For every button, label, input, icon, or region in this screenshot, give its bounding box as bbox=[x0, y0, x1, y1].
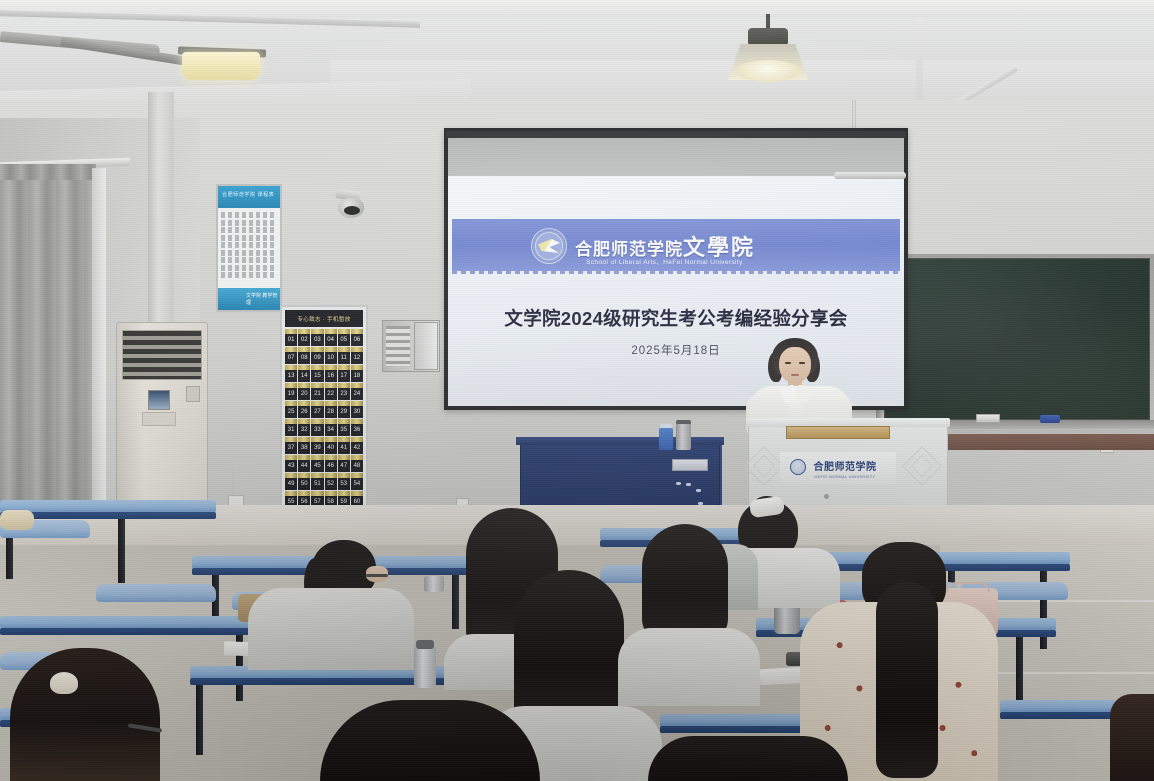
phone-pocket[interactable]: 37 bbox=[285, 437, 297, 454]
notice-row bbox=[221, 272, 277, 278]
phone-pocket[interactable]: 40 bbox=[325, 437, 337, 454]
phone-pocket-number: 19 bbox=[288, 391, 295, 400]
phone-pocket-number: 54 bbox=[354, 481, 361, 490]
lectern-university-name-cn: 合肥师范学院 bbox=[814, 458, 877, 473]
electrical-box-door[interactable] bbox=[414, 322, 438, 370]
phone-pocket[interactable]: 06 bbox=[351, 329, 363, 346]
notice-row bbox=[221, 250, 277, 256]
pendant-lamp-glow bbox=[736, 60, 800, 82]
phone-pocket[interactable]: 21 bbox=[311, 383, 323, 400]
ponytail bbox=[876, 582, 938, 778]
hair-clip bbox=[50, 672, 78, 694]
phone-pocket[interactable]: 49 bbox=[285, 473, 297, 490]
phone-pocket-number: 06 bbox=[354, 337, 361, 346]
phone-pocket-organizer[interactable]: 专心致志 · 手机暂放 0102030405060708091011121314… bbox=[280, 305, 368, 515]
curtain-pleat-header bbox=[0, 164, 96, 180]
hair bbox=[1110, 694, 1154, 781]
desk-leg bbox=[196, 685, 203, 755]
phone-pocket-number: 43 bbox=[288, 463, 295, 472]
phone-pocket[interactable]: 46 bbox=[325, 455, 337, 472]
phone-pocket-number: 39 bbox=[314, 445, 321, 454]
blue-chalk-box[interactable] bbox=[1040, 415, 1060, 423]
phone-pocket-number: 14 bbox=[301, 373, 308, 382]
grey-window-curtain[interactable] bbox=[0, 168, 96, 508]
notice-row bbox=[221, 242, 277, 248]
lectern-university-name-en: HEFEI NORMAL UNIVERSITY bbox=[815, 475, 876, 479]
phone-pocket-number: 42 bbox=[354, 445, 361, 454]
phone-pocket-number: 50 bbox=[301, 481, 308, 490]
phone-pocket-number: 22 bbox=[327, 391, 334, 400]
phone-pocket[interactable]: 01 bbox=[285, 329, 297, 346]
notice-row bbox=[221, 265, 277, 271]
phone-pocket-number: 45 bbox=[314, 463, 321, 472]
notice-row bbox=[221, 257, 277, 263]
projector-screen-gray-band bbox=[448, 138, 904, 176]
phone-pocket-number: 29 bbox=[340, 409, 347, 418]
phone-pocket-number: 33 bbox=[314, 427, 321, 436]
phone-pocket-number: 17 bbox=[340, 373, 347, 382]
phone-pocket-number: 07 bbox=[288, 355, 295, 364]
notice-board-header-text: 合肥师范学院 课程表 bbox=[222, 191, 276, 203]
phone-pocket[interactable]: 05 bbox=[338, 329, 350, 346]
bird-glyph bbox=[538, 239, 560, 253]
phone-pocket-number: 44 bbox=[301, 463, 308, 472]
console-indicator bbox=[676, 482, 681, 485]
notice-board-footer-text: 文学院 教学管理 bbox=[246, 292, 278, 306]
phone-pocket[interactable]: 19 bbox=[285, 383, 297, 400]
slide-header-dotted-rule bbox=[452, 271, 900, 274]
desk-leg bbox=[118, 519, 125, 583]
phone-pocket[interactable]: 34 bbox=[325, 419, 337, 436]
phone-pocket[interactable]: 47 bbox=[338, 455, 350, 472]
floor-tile-line bbox=[990, 672, 1154, 674]
phone-pocket-number: 37 bbox=[288, 445, 295, 454]
phone-pocket-number: 26 bbox=[301, 409, 308, 418]
phone-pocket[interactable]: 39 bbox=[311, 437, 323, 454]
phone-pocket[interactable]: 38 bbox=[298, 437, 310, 454]
phone-pocket[interactable]: 35 bbox=[338, 419, 350, 436]
phone-pocket[interactable]: 25 bbox=[285, 401, 297, 418]
notice-board-rows bbox=[221, 212, 277, 284]
steel-thermos[interactable] bbox=[676, 424, 691, 450]
water-bottle-cap bbox=[416, 640, 434, 649]
phone-pocket[interactable]: 15 bbox=[311, 365, 323, 382]
speaker-face bbox=[779, 347, 811, 383]
top bbox=[618, 628, 760, 706]
phone-pocket[interactable]: 24 bbox=[351, 383, 363, 400]
window-jamb bbox=[92, 168, 106, 508]
phone-pocket-number: 31 bbox=[288, 427, 295, 436]
classroom-presentation-photo: 合肥师范学院 课程表 文学院 教学管理 专心致志 · 手机暂放 01020304… bbox=[0, 0, 1154, 781]
projector-screen-bottom-bar bbox=[834, 172, 906, 179]
phone-pocket-number: 09 bbox=[314, 355, 321, 364]
phone-pocket[interactable]: 52 bbox=[325, 473, 337, 490]
green-chalkboard bbox=[884, 258, 1150, 420]
phone-pocket-number: 10 bbox=[327, 355, 334, 364]
phone-pocket-number: 25 bbox=[288, 409, 295, 418]
phone-pocket-number: 03 bbox=[314, 337, 321, 346]
phone-pocket[interactable]: 45 bbox=[311, 455, 323, 472]
notice-row bbox=[221, 227, 277, 233]
audience-member bbox=[612, 524, 762, 704]
phone-pocket-header-text: 专心致志 · 手机暂放 bbox=[297, 315, 350, 323]
beige-bag[interactable] bbox=[0, 510, 34, 530]
phone-pocket-number: 24 bbox=[354, 391, 361, 400]
phone-pocket[interactable]: 30 bbox=[351, 401, 363, 418]
phone-pocket-number: 11 bbox=[341, 355, 347, 364]
notice-row bbox=[221, 235, 277, 241]
notice-row bbox=[221, 220, 277, 226]
dome-camera-lens bbox=[344, 206, 360, 215]
audience-member bbox=[320, 700, 540, 781]
phone-pocket-number: 13 bbox=[288, 373, 295, 382]
phone-pocket-number: 28 bbox=[327, 409, 334, 418]
phone-pocket-number: 41 bbox=[340, 445, 347, 454]
phone-pocket-number: 02 bbox=[301, 337, 308, 346]
phone-pocket-number: 16 bbox=[327, 373, 334, 382]
long-hair bbox=[642, 524, 728, 644]
phone-pocket[interactable]: 10 bbox=[325, 347, 337, 364]
console-indicator bbox=[686, 483, 691, 486]
phone-pocket-number: 15 bbox=[314, 373, 321, 382]
phone-pocket[interactable]: 04 bbox=[325, 329, 337, 346]
air-conditioner-badge bbox=[186, 386, 200, 402]
phone-pocket-number: 27 bbox=[314, 409, 321, 418]
phone-pocket-grid: 0102030405060708091011121314151617181920… bbox=[285, 329, 363, 508]
audience-member bbox=[648, 736, 848, 781]
phone-pocket[interactable]: 53 bbox=[338, 473, 350, 490]
projector-screen-top-bar bbox=[446, 131, 906, 138]
air-conditioner-vents bbox=[122, 330, 202, 380]
phone-pocket[interactable]: 26 bbox=[298, 401, 310, 418]
phone-pocket-number: 38 bbox=[301, 445, 308, 454]
phone-pocket-number: 49 bbox=[288, 481, 295, 490]
phone-pocket[interactable]: 50 bbox=[298, 473, 310, 490]
phone-pocket-number: 40 bbox=[327, 445, 334, 454]
phone-pocket[interactable]: 14 bbox=[298, 365, 310, 382]
phone-pocket[interactable]: 48 bbox=[351, 455, 363, 472]
pendant-lamp-cap bbox=[748, 28, 788, 46]
phone-pocket[interactable]: 44 bbox=[298, 455, 310, 472]
phone-pocket[interactable]: 20 bbox=[298, 383, 310, 400]
phone-pocket[interactable]: 54 bbox=[351, 473, 363, 490]
air-conditioner-display-panel[interactable] bbox=[148, 390, 170, 410]
phone-pocket[interactable]: 17 bbox=[338, 365, 350, 382]
audience-member bbox=[248, 540, 418, 670]
blue-water-bottle[interactable] bbox=[659, 428, 673, 450]
phone-pocket[interactable]: 09 bbox=[311, 347, 323, 364]
phone-pocket-number: 04 bbox=[327, 337, 334, 346]
phone-pocket[interactable]: 13 bbox=[285, 365, 297, 382]
phone-pocket[interactable]: 03 bbox=[311, 329, 323, 346]
phone-pocket-number: 35 bbox=[340, 427, 347, 436]
phone-pocket-number: 23 bbox=[340, 391, 347, 400]
phone-pocket[interactable]: 08 bbox=[298, 347, 310, 364]
phone-pocket-number: 08 bbox=[301, 355, 308, 364]
phone-pocket[interactable]: 33 bbox=[311, 419, 323, 436]
slide-title: 文学院2024级研究生考公考编经验分享会 bbox=[452, 305, 900, 331]
phone-pocket-number: 01 bbox=[288, 337, 295, 346]
phone-pocket-number: 18 bbox=[354, 373, 361, 382]
phone-pocket[interactable]: 11 bbox=[338, 347, 350, 364]
desk-edge bbox=[0, 628, 260, 635]
board-eraser[interactable] bbox=[976, 414, 1000, 423]
hair bbox=[10, 648, 160, 781]
phone-pocket-number: 53 bbox=[340, 481, 347, 490]
phone-pocket-number: 05 bbox=[340, 337, 347, 346]
ceiling-light-fixture bbox=[182, 52, 260, 80]
phone-pocket-number: 12 bbox=[354, 355, 361, 364]
phone-pocket[interactable]: 22 bbox=[325, 383, 337, 400]
phone-pocket-number: 20 bbox=[301, 391, 308, 400]
phone-pocket-header: 专心致志 · 手机暂放 bbox=[285, 310, 363, 327]
phone-pocket-number: 46 bbox=[327, 463, 334, 472]
phone-pocket-number: 34 bbox=[327, 427, 334, 436]
phone-pocket-number: 48 bbox=[354, 463, 361, 472]
bird-emblem-icon bbox=[531, 228, 567, 264]
phone-pocket[interactable]: 32 bbox=[298, 419, 310, 436]
phone-pocket-number: 47 bbox=[340, 463, 347, 472]
phone-pocket[interactable]: 18 bbox=[351, 365, 363, 382]
phone-pocket[interactable]: 42 bbox=[351, 437, 363, 454]
console-indicator bbox=[696, 489, 701, 492]
notice-row bbox=[221, 212, 277, 218]
phone-pocket-number: 52 bbox=[327, 481, 334, 490]
phone-pocket[interactable]: 36 bbox=[351, 419, 363, 436]
phone-pocket[interactable]: 28 bbox=[325, 401, 337, 418]
wall-wire bbox=[232, 470, 234, 498]
phone-pocket[interactable]: 43 bbox=[285, 455, 297, 472]
eyeglasses bbox=[366, 574, 388, 577]
phone-pocket[interactable]: 02 bbox=[298, 329, 310, 346]
audience-member bbox=[1110, 694, 1154, 781]
phone-pocket[interactable]: 16 bbox=[325, 365, 337, 382]
phone-pocket[interactable]: 23 bbox=[338, 383, 350, 400]
phone-pocket[interactable]: 07 bbox=[285, 347, 297, 364]
electrical-box-terminals bbox=[386, 326, 410, 366]
lectern-logo-icon bbox=[790, 459, 806, 475]
phone-pocket[interactable]: 27 bbox=[311, 401, 323, 418]
phone-pocket-number: 21 bbox=[314, 391, 321, 400]
teacher-console-top-edge bbox=[516, 437, 724, 445]
phone-pocket[interactable]: 29 bbox=[338, 401, 350, 418]
slide-logo-english-name: School of Liberal Arts、HeFei Normal Univ… bbox=[586, 256, 743, 266]
hair bbox=[320, 700, 540, 781]
phone-pocket-number: 30 bbox=[354, 409, 361, 418]
air-conditioner-label bbox=[142, 412, 176, 426]
phone-pocket-number: 32 bbox=[301, 427, 308, 436]
phone-pocket[interactable]: 31 bbox=[285, 419, 297, 436]
teacher-console-label-plate bbox=[672, 459, 708, 471]
phone-pocket[interactable]: 12 bbox=[351, 347, 363, 364]
phone-pocket[interactable]: 41 bbox=[338, 437, 350, 454]
bench-seat[interactable] bbox=[96, 584, 216, 602]
phone-pocket-number: 36 bbox=[354, 427, 361, 436]
phone-pocket[interactable]: 51 bbox=[311, 473, 323, 490]
lectern-wood-panel bbox=[786, 426, 890, 439]
audience-member bbox=[0, 648, 190, 781]
hair bbox=[648, 736, 848, 781]
white-blazer bbox=[248, 588, 414, 670]
phone-pocket-number: 51 bbox=[314, 481, 321, 490]
